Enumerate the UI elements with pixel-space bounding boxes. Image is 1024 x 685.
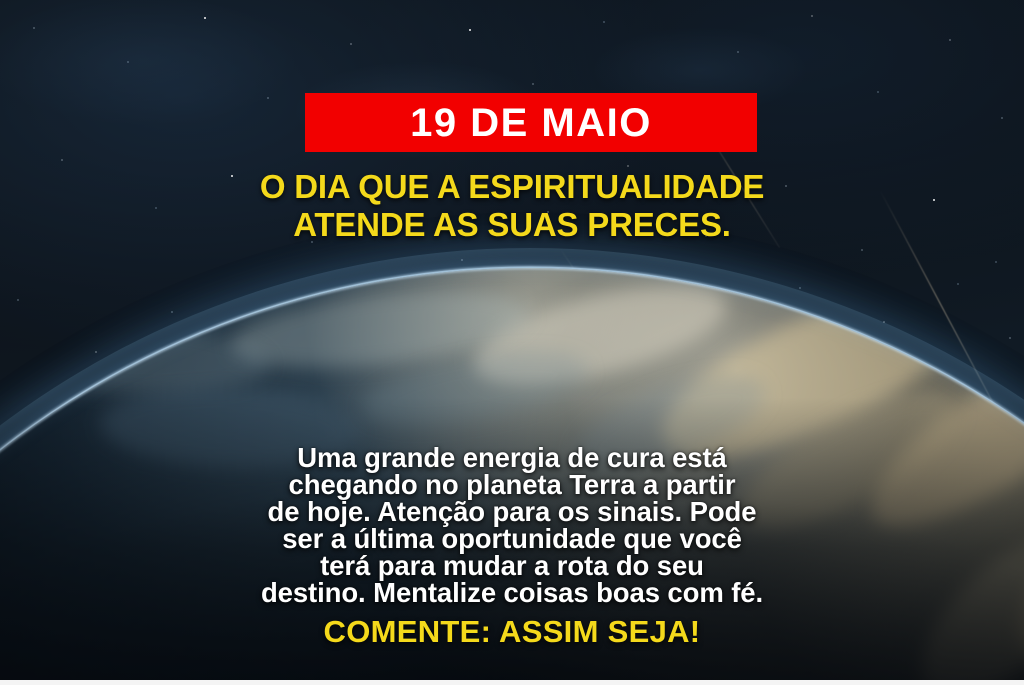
poster: 19 DE MAIO O DIA QUE A ESPIRITUALIDADE A…: [0, 0, 1024, 685]
body-line-4: ser a última oportunidade que você: [0, 525, 1024, 552]
body-line-2: chegando no planeta Terra a partir: [0, 471, 1024, 498]
poster-content: 19 DE MAIO O DIA QUE A ESPIRITUALIDADE A…: [0, 0, 1024, 685]
body-text: Uma grande energia de cura está chegando…: [0, 444, 1024, 606]
body-line-3: de hoje. Atenção para os sinais. Pode: [0, 498, 1024, 525]
body-line-5: terá para mudar a rota do seu: [0, 552, 1024, 579]
body-line-1: Uma grande energia de cura está: [0, 444, 1024, 471]
date-banner: 19 DE MAIO: [305, 93, 757, 152]
body-line-6: destino. Mentalize coisas boas com fé.: [0, 579, 1024, 606]
bottom-edge-strip: [0, 680, 1024, 685]
date-banner-text: 19 DE MAIO: [410, 103, 652, 143]
headline: O DIA QUE A ESPIRITUALIDADE ATENDE AS SU…: [0, 168, 1024, 244]
headline-line-1: O DIA QUE A ESPIRITUALIDADE: [0, 168, 1024, 206]
headline-line-2: ATENDE AS SUAS PRECES.: [0, 206, 1024, 244]
call-to-action-text: COMENTE: ASSIM SEJA!: [0, 615, 1024, 649]
